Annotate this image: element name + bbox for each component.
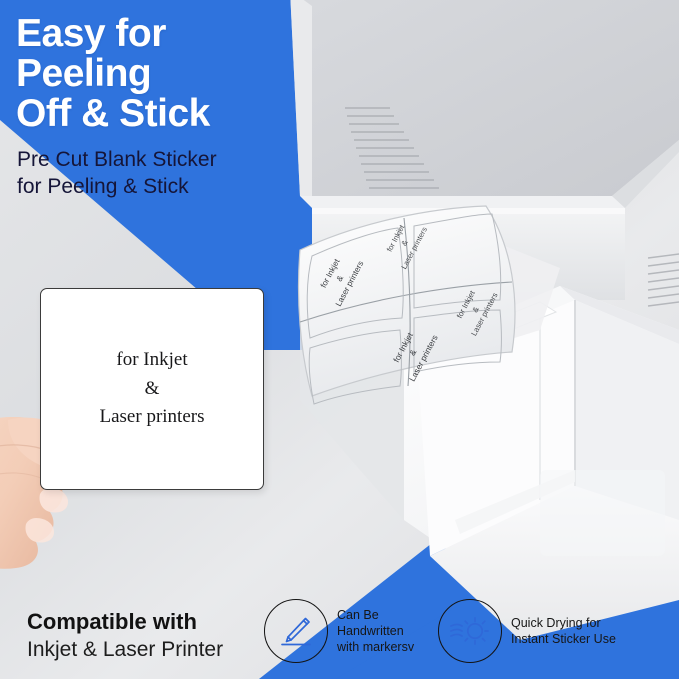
hero-subheadline: Pre Cut Blank Sticker for Peeling & Stic… xyxy=(17,147,217,201)
feature-quick-drying-label: Quick Drying for Instant Sticker Use xyxy=(511,615,616,647)
feature-handwritten-circle xyxy=(264,599,328,663)
product-marketing-image: Easy for Peeling Off & Stick Pre Cut Bla… xyxy=(0,0,679,679)
hero-headline: Easy for Peeling Off & Stick xyxy=(16,14,210,134)
feature-handwritten: Can Be Handwritten with markersv xyxy=(264,599,414,663)
pen-writing-icon xyxy=(276,611,316,651)
feature-quick-drying: Quick Drying for Instant Sticker Use xyxy=(438,599,616,663)
sun-drying-icon xyxy=(448,611,492,651)
feature-handwritten-label: Can Be Handwritten with markersv xyxy=(337,607,414,655)
sample-label-card-text: for Inkjet & Laser printers xyxy=(100,346,205,433)
feature-quick-drying-circle xyxy=(438,599,502,663)
compatibility-subtitle: Inkjet & Laser Printer xyxy=(27,636,223,663)
printer-vent-slots-right xyxy=(648,254,679,306)
sample-label-card: for Inkjet & Laser printers xyxy=(40,288,264,490)
compatibility-block: Compatible with Inkjet & Laser Printer xyxy=(27,608,223,663)
blue-diagonal-wedge xyxy=(250,0,465,350)
compatibility-title: Compatible with xyxy=(27,608,223,636)
